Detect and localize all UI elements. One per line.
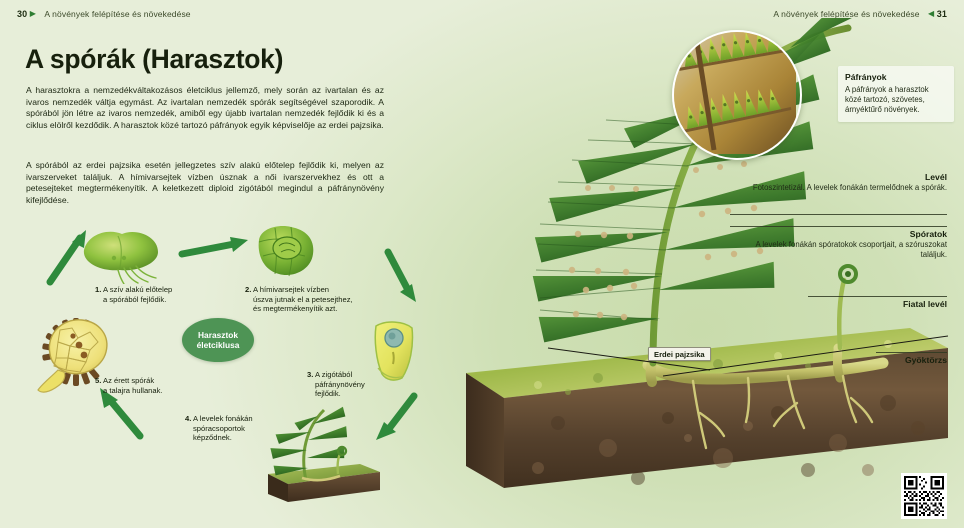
triangle-left-icon: ◀ xyxy=(928,9,934,18)
cycle-step-1-line2: a spórából fejlődik. xyxy=(95,295,225,305)
cycle-arrow-3-to-4 xyxy=(372,392,420,444)
cycle-step-3-line3: fejlődik. xyxy=(307,389,417,399)
callout-level-desc: Fotoszintetizál. A levelek fonákán terme… xyxy=(747,183,947,193)
cycle-step-4-line3: képződnek. xyxy=(185,433,315,443)
cycle-arrow-5-to-1 xyxy=(42,228,94,286)
cycle-step-4-line2: spóracsoportok xyxy=(185,424,315,434)
header-left: 30 ▶ A növények felépítése és növekedése xyxy=(17,8,197,19)
callout-sporatok-desc: A levelek fonákán spóratokok csoportjait… xyxy=(735,240,947,259)
cycle-step-1-label: 1. A szív alakú előtelep a spórából fejl… xyxy=(95,285,225,304)
body-paragraph-1: A harasztokra a nemzedékváltakozásos éle… xyxy=(26,85,384,131)
cycle-step-3-line2: páfránynövény xyxy=(307,380,417,390)
callout-rule-4 xyxy=(876,352,947,353)
cycle-step-1-line1: A szív alakú előtelep xyxy=(103,285,172,294)
cycle-step-1-num: 1. xyxy=(95,285,101,294)
cycle-step-5-label: 5. Az érett spórák a talajra hullanak. xyxy=(95,376,225,395)
callout-fiatal-level: Fiatal levél xyxy=(787,299,947,309)
body-paragraph-2: A spórából az erdei pajzsika esetén jell… xyxy=(26,160,384,206)
callout-rule-1 xyxy=(730,214,947,215)
cycle-badge: Harasztok életciklusa xyxy=(182,318,254,362)
infobox-pafranyok: Páfrányok A páfrányok a harasztok közé t… xyxy=(838,66,954,122)
textbook-spread: 30 ▶ A növények felépítése és növekedése… xyxy=(0,0,964,528)
triangle-right-icon: ▶ xyxy=(30,9,36,18)
callout-rule-3 xyxy=(808,296,947,297)
fern-photo-inset xyxy=(672,30,802,160)
infobox-text: A páfrányok a harasztok közé tartozó, sz… xyxy=(845,85,947,115)
infobox-title: Páfrányok xyxy=(845,72,947,82)
callout-gyoktorzs-title: Gyöktörzs xyxy=(787,355,947,365)
main-label-erdei-pajzsika: Erdei pajzsika xyxy=(648,347,711,361)
cycle-step-2-label: 2. A hímivarsejtek vízben úszva jutnak e… xyxy=(245,285,405,314)
cycle-step-4-label: 4. A levelek fonákán spóracsoportok képz… xyxy=(185,414,315,443)
callout-sporatok: Spóratok A levelek fonákán spóratokok cs… xyxy=(735,229,947,259)
cycle-arrow-1-to-2 xyxy=(180,236,252,262)
cycle-step-2-line1: A hímivarsejtek vízben xyxy=(253,285,329,294)
cycle-step-5-line1: Az érett spórák xyxy=(103,376,154,385)
qr-code[interactable] xyxy=(901,473,947,519)
cycle-step-3-label: 3. A zigótából páfránynövény fejlődik. xyxy=(307,370,417,399)
callout-fiatal-level-title: Fiatal levél xyxy=(787,299,947,309)
callout-gyoktorzs: Gyöktörzs xyxy=(787,355,947,365)
callout-level: Levél Fotoszintetizál. A levelek fonákán… xyxy=(747,172,947,193)
antheridium-illustration xyxy=(255,224,317,280)
cycle-step-3-line1: A zigótából xyxy=(315,370,352,379)
callout-sporatok-title: Spóratok xyxy=(735,229,947,239)
cycle-step-2-line3: és megtermékenyítik azt. xyxy=(245,304,405,314)
cycle-step-3-num: 3. xyxy=(307,370,313,379)
cycle-step-2-num: 2. xyxy=(245,285,251,294)
cycle-step-4-line1: A levelek fonákán xyxy=(193,414,253,423)
cycle-step-5-num: 5. xyxy=(95,376,101,385)
page-number-left: 30 xyxy=(17,9,27,19)
callout-level-title: Levél xyxy=(747,172,947,182)
running-title-left: A növények felépítése és növekedése xyxy=(44,9,190,19)
page-title: A spórák (Harasztok) xyxy=(25,44,283,75)
cycle-step-5-line2: a talajra hullanak. xyxy=(95,386,225,396)
callout-rule-2 xyxy=(730,226,947,227)
cycle-step-2-line2: úszva jutnak el a petesejthez, xyxy=(245,295,405,305)
cycle-step-4-num: 4. xyxy=(185,414,191,423)
